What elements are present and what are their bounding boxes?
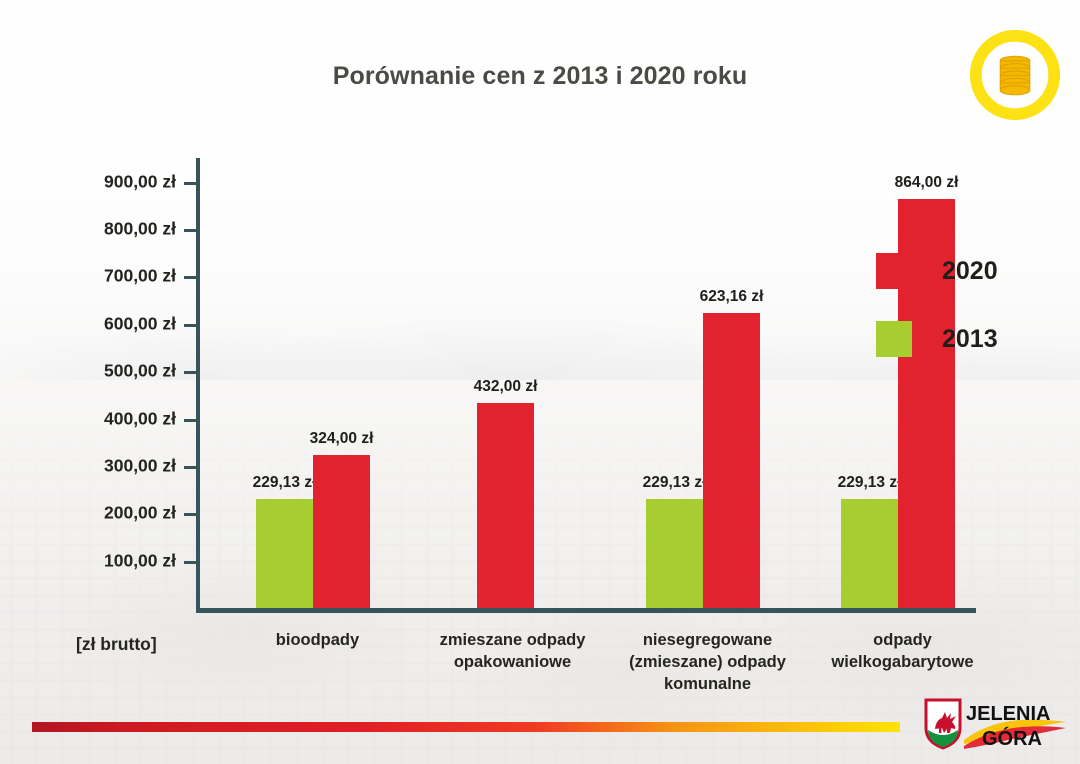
bar-2020-group-0[interactable]: 324,00 zł	[313, 455, 370, 608]
unit-label: [zł brutto]	[76, 634, 157, 655]
category-label-3: odpadywielkogabarytowe	[787, 630, 1018, 674]
city-logo-line1: JELENIA	[966, 703, 1050, 725]
y-axis-tick-label: 700,00 zł	[104, 266, 176, 287]
y-axis-tick-label: 800,00 zł	[104, 219, 176, 240]
y-axis-tick-label: 100,00 zł	[104, 550, 176, 571]
category-label-line: wielkogabarytowe	[787, 652, 1018, 674]
y-axis-tick	[184, 419, 196, 422]
bar-value-label: 229,13 zł	[838, 474, 902, 492]
y-axis-tick-label: 400,00 zł	[104, 408, 176, 429]
bar-2013-group-3[interactable]: 229,13 zł	[841, 499, 898, 608]
bar-value-label: 864,00 zł	[895, 174, 959, 192]
legend-swatch-2013	[876, 321, 912, 357]
y-axis-tick-label: 500,00 zł	[104, 361, 176, 382]
y-axis-tick-label: 300,00 zł	[104, 455, 176, 476]
y-axis-tick	[184, 513, 196, 516]
bar-value-label: 324,00 zł	[310, 430, 374, 448]
category-label-line: odpady	[787, 630, 1018, 652]
chart-plot-area: 100,00 zł200,00 zł300,00 zł400,00 zł500,…	[196, 158, 976, 613]
chart-title: Porównanie cen z 2013 i 2020 roku	[0, 62, 1080, 91]
category-label-line: komunalne	[592, 674, 823, 696]
city-logo-line2: GÓRA	[982, 726, 1042, 750]
bar-2020-group-2[interactable]: 623,16 zł	[703, 313, 760, 608]
bar-value-label: 229,13 zł	[643, 474, 707, 492]
y-axis-tick-label: 600,00 zł	[104, 313, 176, 334]
legend-swatch-2020	[876, 253, 912, 289]
y-axis-line	[196, 158, 200, 613]
y-axis-tick-label: 900,00 zł	[104, 171, 176, 192]
bar-2013-group-0[interactable]: 229,13 zł	[256, 499, 313, 608]
legend-item-2020[interactable]: 2020	[876, 252, 1036, 290]
bar-value-label: 623,16 zł	[700, 288, 764, 306]
x-axis-line	[196, 608, 976, 613]
legend-label-2013: 2013	[942, 325, 998, 354]
legend-item-2013[interactable]: 2013	[876, 320, 1036, 358]
bar-2013-group-2[interactable]: 229,13 zł	[646, 499, 703, 608]
y-axis-tick	[184, 561, 196, 564]
bar-value-label: 432,00 zł	[474, 378, 538, 396]
y-axis-tick	[184, 182, 196, 185]
y-axis-tick	[184, 466, 196, 469]
coin-stack-icon	[966, 26, 1064, 124]
y-axis-tick	[184, 371, 196, 374]
y-axis-tick	[184, 276, 196, 279]
jelenia-gora-coat-of-arms-icon: JELENIA GÓRA	[920, 696, 1068, 752]
infographic-root: Porównanie cen z 2013 i 2020 roku 100,00…	[0, 0, 1080, 764]
accent-bar	[32, 722, 900, 732]
y-axis-tick-label: 200,00 zł	[104, 503, 176, 524]
bar-value-label: 229,13 zł	[253, 474, 317, 492]
bar-2020-group-1[interactable]: 432,00 zł	[477, 403, 534, 608]
y-axis-tick	[184, 324, 196, 327]
chart-legend: 2020 2013	[876, 252, 1036, 388]
y-axis-tick	[184, 229, 196, 232]
legend-label-2020: 2020	[942, 257, 998, 286]
